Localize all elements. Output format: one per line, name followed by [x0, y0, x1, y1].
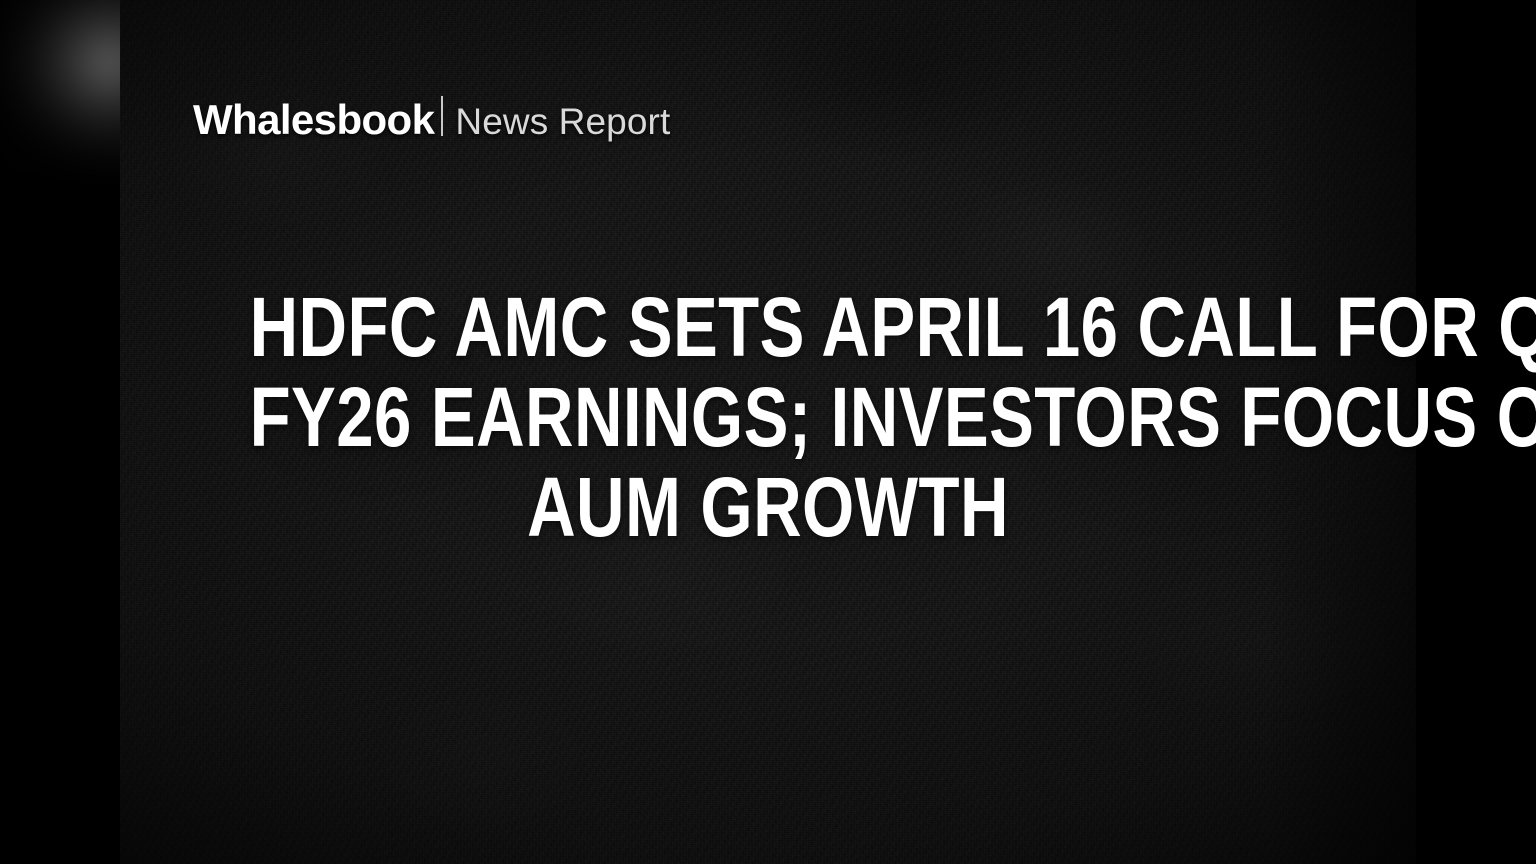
corner-glow — [0, 0, 120, 170]
headline-line-1: HDFC AMC SETS APRIL 16 CALL FOR Q4 — [250, 282, 1287, 372]
headline: HDFC AMC SETS APRIL 16 CALL FOR Q4 FY26 … — [120, 282, 1416, 552]
brand-name: Whalesbook — [193, 96, 434, 144]
brand-logo[interactable]: Whalesbook News Report — [193, 94, 670, 144]
headline-line-2: FY26 EARNINGS; INVESTORS FOCUS ON — [250, 372, 1287, 462]
brand-subtitle: News Report — [455, 101, 670, 143]
headline-line-3: AUM GROWTH — [250, 462, 1287, 552]
news-card: Whalesbook News Report HDFC AMC SETS APR… — [0, 0, 1536, 864]
logo-divider — [441, 96, 443, 136]
corner-glow-clip — [0, 0, 120, 240]
